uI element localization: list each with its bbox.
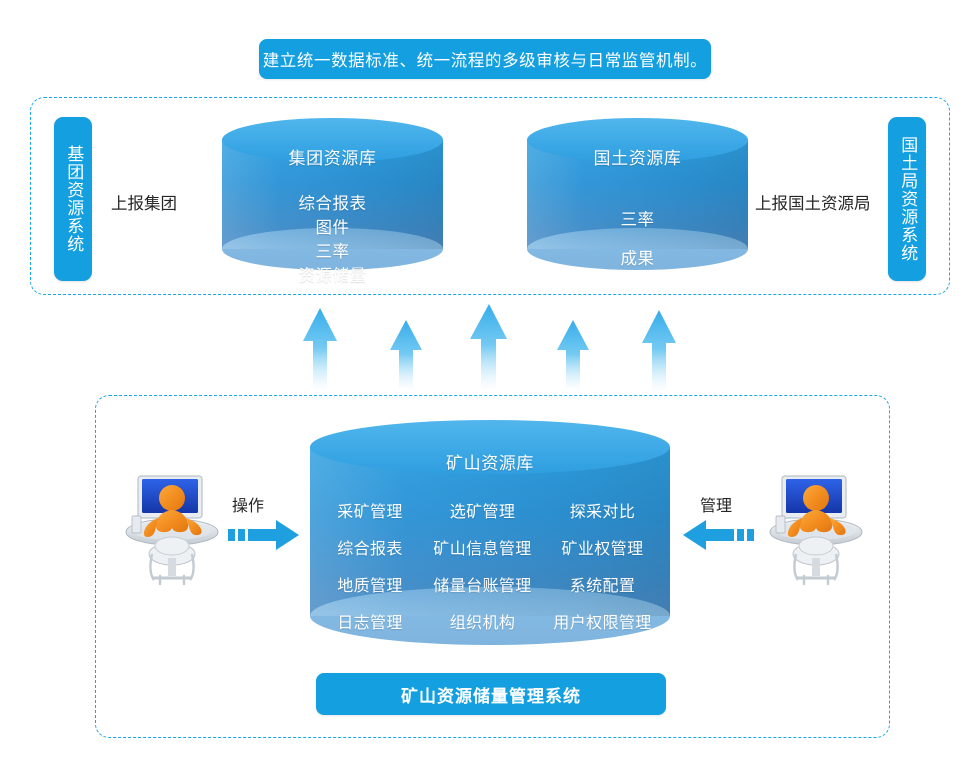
module-item[interactable]: 矿山信息管理	[420, 535, 545, 559]
cylinder-title: 集团资源库	[222, 144, 443, 169]
headline-banner: 建立统一数据标准、统一流程的多级审核与日常监管机制。	[259, 39, 711, 79]
db-item: 图件	[222, 214, 443, 238]
label-manage: 管理	[700, 492, 732, 516]
db-item: 成果	[527, 245, 748, 269]
module-item[interactable]: 探采对比	[545, 498, 660, 522]
module-item[interactable]: 储量台账管理	[420, 572, 545, 596]
arrow-left-manage	[682, 518, 754, 552]
cylinder-group-resource-db: 集团资源库 综合报表 图件 三率 资源储量	[222, 118, 443, 270]
flow-arrow-up	[553, 315, 597, 391]
cylinder-content: 矿山资源库 采矿管理 选矿管理 探采对比 综合报表 矿山信息管理 矿业权管理 地…	[310, 420, 670, 645]
cylinder-title: 国土资源库	[527, 144, 748, 169]
flow-arrow-up	[386, 315, 430, 391]
module-item[interactable]: 矿业权管理	[545, 535, 660, 559]
cylinder-mine-resource-db: 矿山资源库 采矿管理 选矿管理 探采对比 综合报表 矿山信息管理 矿业权管理 地…	[310, 420, 670, 645]
db-item: 三率	[222, 238, 443, 262]
module-grid: 采矿管理 选矿管理 探采对比 综合报表 矿山信息管理 矿业权管理 地质管理 储量…	[320, 498, 660, 633]
side-tab-land-bureau-resource-system: 国土局资源系统	[888, 117, 926, 281]
module-item[interactable]: 组织机构	[420, 609, 545, 633]
flow-arrow-up	[465, 300, 517, 390]
workstation-user-icon	[118, 468, 226, 586]
label-report-to-land-bureau: 上报国土资源局	[755, 190, 871, 214]
side-tab-group-resource-system: 基团资源系统	[54, 117, 92, 281]
workstation-user-icon	[762, 468, 870, 586]
module-item[interactable]: 综合报表	[320, 535, 420, 559]
cylinder-content: 国土资源库 三率 成果	[527, 118, 748, 270]
diagram-canvas: 建立统一数据标准、统一流程的多级审核与日常监管机制。 基团资源系统 国土局资源系…	[0, 0, 980, 770]
label-report-to-group: 上报集团	[111, 190, 177, 214]
cylinder-title: 矿山资源库	[310, 449, 670, 474]
module-item[interactable]: 用户权限管理	[545, 609, 660, 633]
db-item: 资源储量	[222, 262, 443, 286]
flow-arrow-up	[298, 303, 348, 391]
module-item[interactable]: 采矿管理	[320, 498, 420, 522]
system-name-banner: 矿山资源储量管理系统	[316, 673, 666, 715]
flow-arrow-up	[636, 306, 686, 392]
module-item[interactable]: 系统配置	[545, 572, 660, 596]
cylinder-land-resource-db: 国土资源库 三率 成果	[527, 118, 748, 270]
label-operate: 操作	[232, 492, 264, 516]
cylinder-content: 集团资源库 综合报表 图件 三率 资源储量	[222, 118, 443, 270]
db-item: 三率	[527, 206, 748, 230]
module-item[interactable]: 地质管理	[320, 572, 420, 596]
module-item[interactable]: 日志管理	[320, 609, 420, 633]
module-item[interactable]: 选矿管理	[420, 498, 545, 522]
db-item: 综合报表	[222, 190, 443, 214]
arrow-right-operate	[228, 518, 300, 552]
